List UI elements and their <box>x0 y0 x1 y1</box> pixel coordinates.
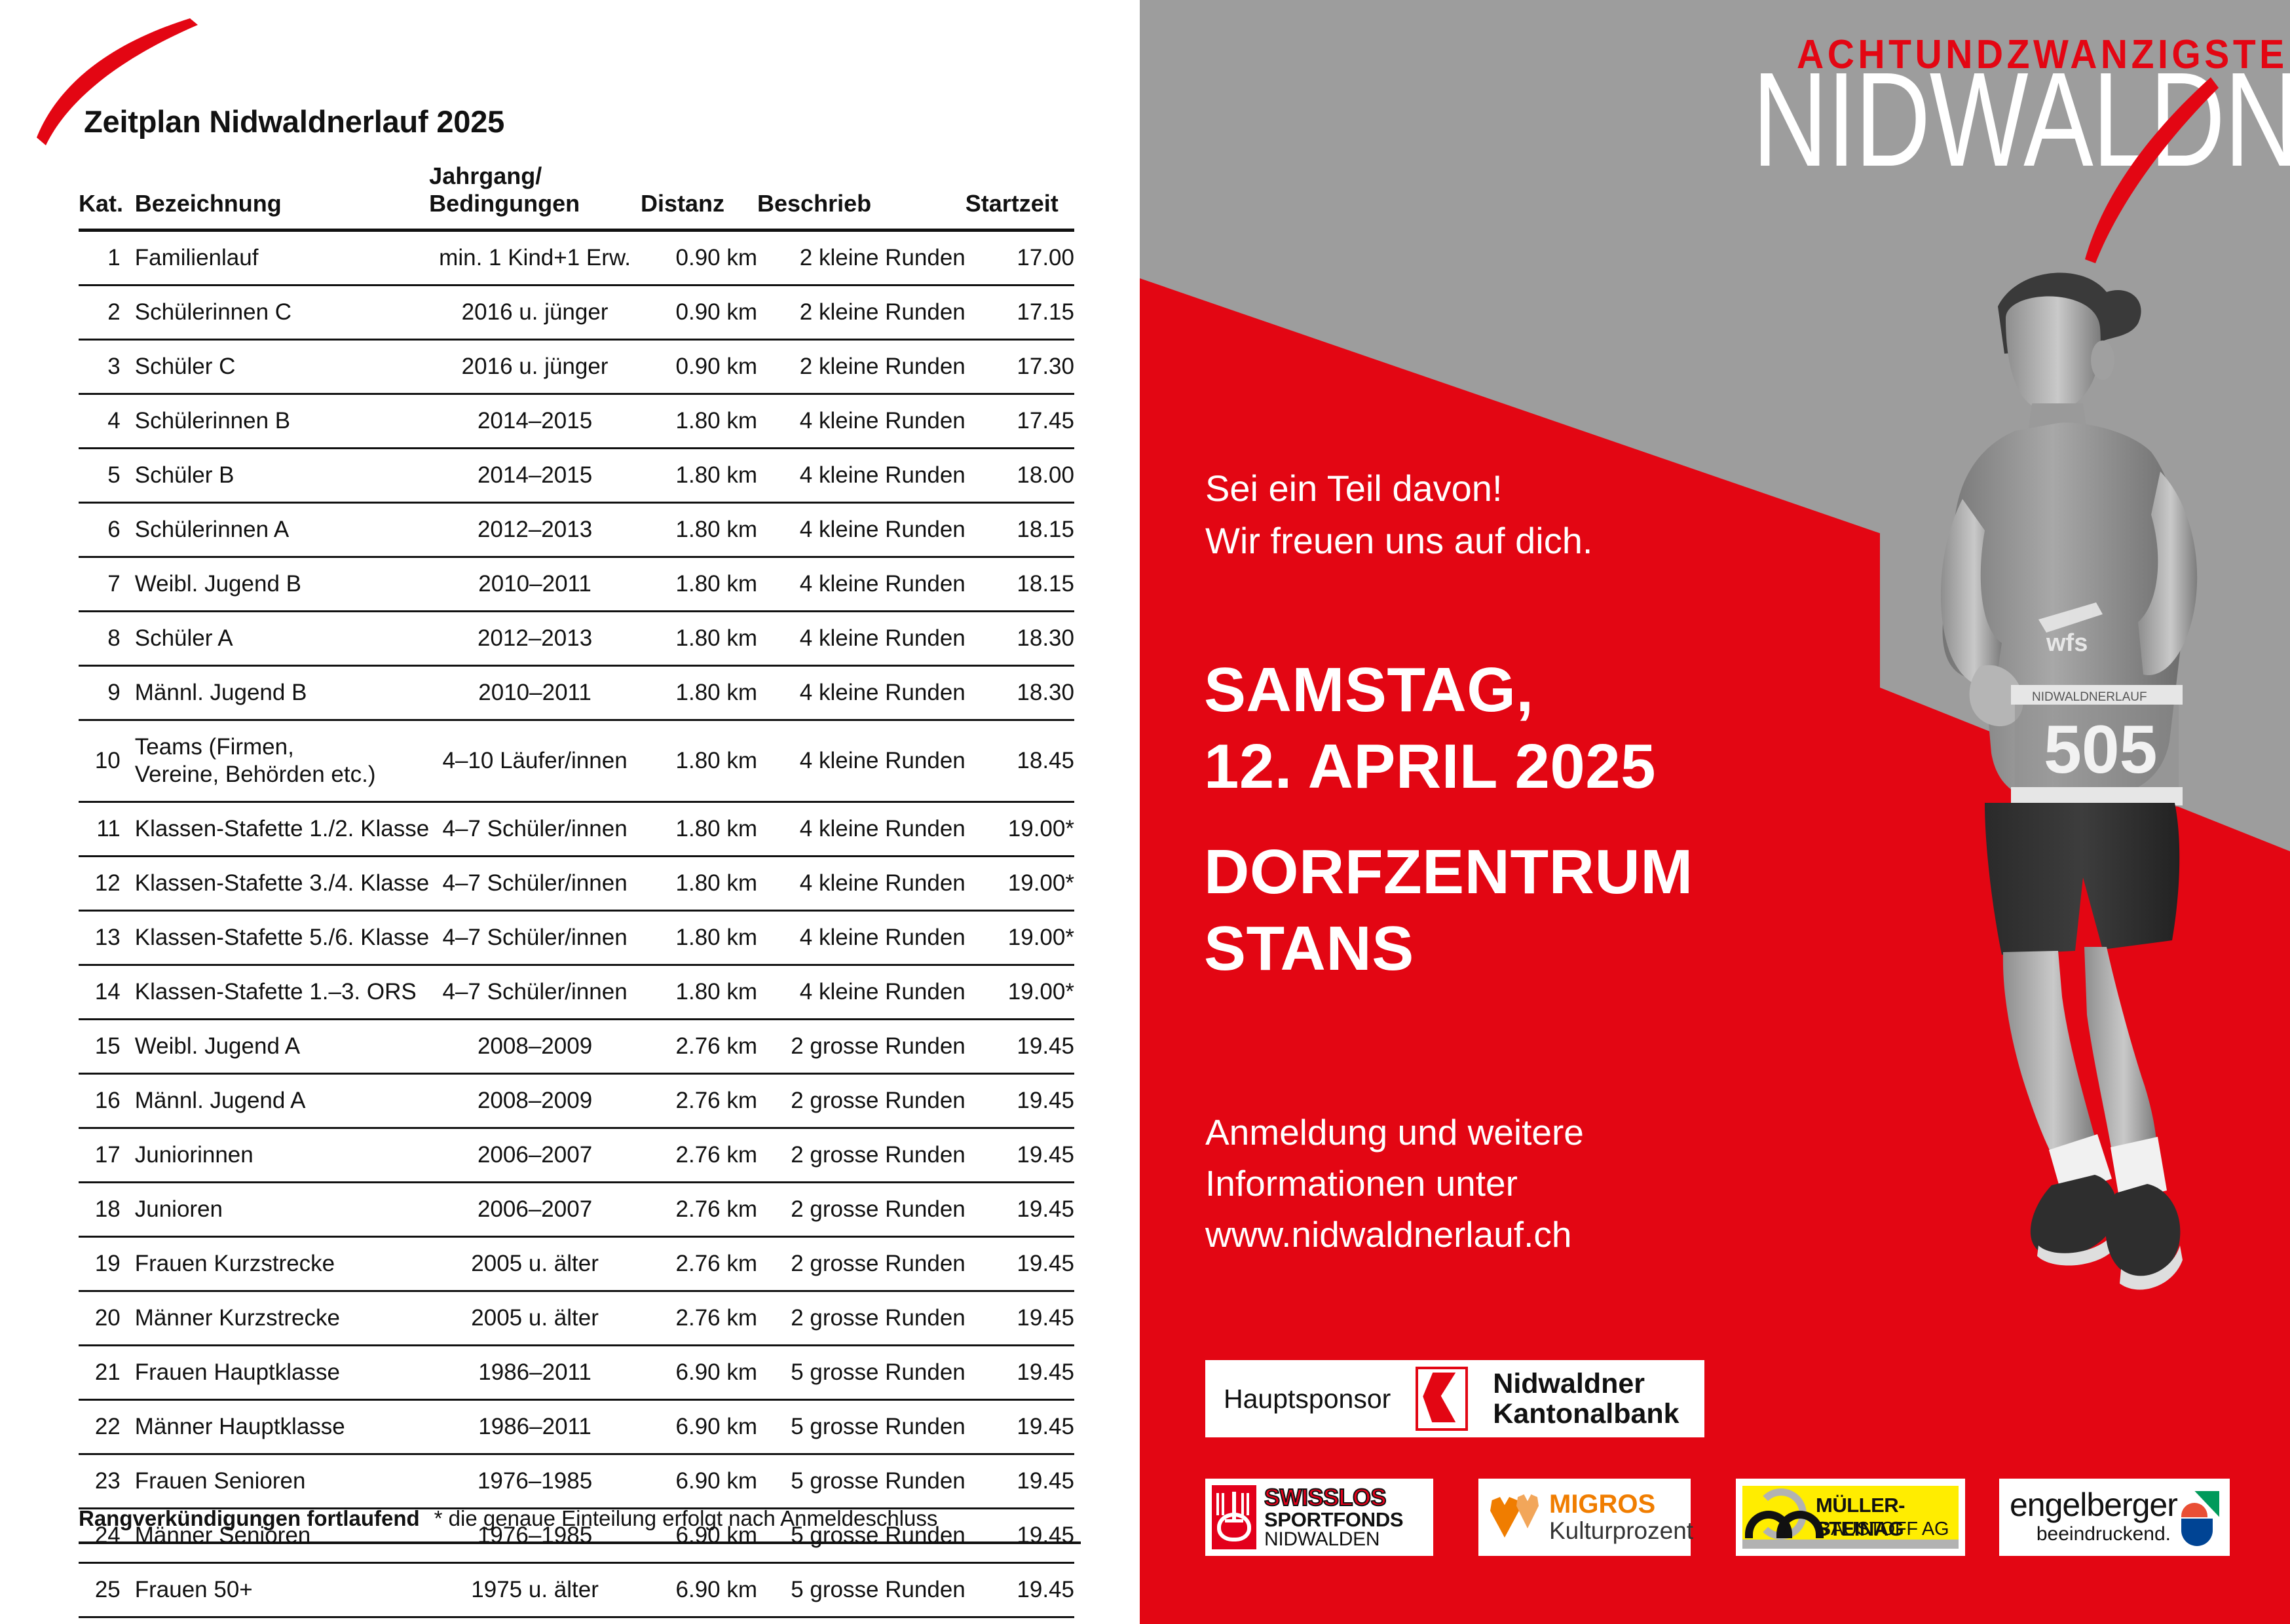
cell-startzeit: 18.15 <box>966 502 1074 557</box>
table-header: Kat. Bezeichnung Jahrgang/ Bedingungen D… <box>79 162 1074 230</box>
headline-line-1: SAMSTAG, <box>1204 652 1693 728</box>
cell-beschrieb: 2 grosse Runden <box>757 1236 966 1291</box>
cell-startzeit: 19.45 <box>966 1345 1074 1399</box>
cell-beschrieb: 2 kleine Runden <box>757 285 966 339</box>
cell-startzeit: 17.45 <box>966 394 1074 448</box>
swisslos-line1: SWISSLOS <box>1264 1486 1403 1509</box>
cell-kat: 9 <box>79 665 135 720</box>
cell-beschrieb: 4 kleine Runden <box>757 720 966 802</box>
cell-kat: 20 <box>79 1291 135 1345</box>
cell-kat: 7 <box>79 557 135 611</box>
cell-kat: 17 <box>79 1128 135 1182</box>
table-body: 1Familienlaufmin. 1 Kind+1 Erw.0.90 km2 … <box>79 230 1074 1624</box>
table-row: 3Schüler C2016 u. jünger0.90 km2 kleine … <box>79 339 1074 394</box>
cell-jahrgang: 2006–2007 <box>429 1128 641 1182</box>
schedule-table: Kat. Bezeichnung Jahrgang/ Bedingungen D… <box>79 162 1074 1624</box>
svg-text:wfs: wfs <box>2046 629 2088 657</box>
cell-beschrieb: 2 grosse Runden <box>757 1291 966 1345</box>
cell-kat: 16 <box>79 1073 135 1128</box>
schedule-panel: Zeitplan Nidwaldnerlauf 2025 Kat. Bezeic… <box>0 0 1140 1624</box>
svg-text:NIDWALDNERLAUF: NIDWALDNERLAUF <box>2032 690 2147 704</box>
cell-bezeichnung: Frauen 50+ <box>135 1562 429 1617</box>
cell-bezeichnung: Männer Kurzstrecke <box>135 1291 429 1345</box>
info-line-2: Informationen unter <box>1205 1158 1584 1209</box>
cell-distanz: 1.80 km <box>641 665 757 720</box>
cell-bezeichnung: Klassen-Stafette 1.–3. ORS <box>135 965 429 1019</box>
main-sponsor-logo[interactable]: Hauptsponsor Nidwaldner Kantonalbank <box>1205 1360 1704 1437</box>
table-row: 26Männer 50+1975 u. älter6.90 km5 grosse… <box>79 1617 1074 1624</box>
cell-bezeichnung: Schüler C <box>135 339 429 394</box>
cell-startzeit: 18.30 <box>966 611 1074 665</box>
migros-line2: Kulturprozent <box>1549 1518 1693 1544</box>
cell-startzeit: 19.45 <box>966 1128 1074 1182</box>
nkb-key-icon <box>1416 1367 1468 1431</box>
table-row: 1Familienlaufmin. 1 Kind+1 Erw.0.90 km2 … <box>79 230 1074 285</box>
cell-bezeichnung: Männl. Jugend B <box>135 665 429 720</box>
cell-distanz: 0.90 km <box>641 230 757 285</box>
table-row: 8Schüler A2012–20131.80 km4 kleine Runde… <box>79 611 1074 665</box>
cell-jahrgang: 2014–2015 <box>429 448 641 502</box>
table-row: 10Teams (Firmen,Vereine, Behörden etc.)4… <box>79 720 1074 802</box>
cell-jahrgang: 1975 u. älter <box>429 1617 641 1624</box>
cell-jahrgang: min. 1 Kind+1 Erw. <box>429 230 641 285</box>
cell-beschrieb: 4 kleine Runden <box>757 448 966 502</box>
headline-date-block: SAMSTAG, 12. APRIL 2025 <box>1204 652 1693 805</box>
cell-bezeichnung: Frauen Senioren <box>135 1454 429 1508</box>
cell-distanz: 1.80 km <box>641 856 757 910</box>
cell-jahrgang: 2016 u. jünger <box>429 339 641 394</box>
table-row: 7Weibl. Jugend B2010–20111.80 km4 kleine… <box>79 557 1074 611</box>
migros-text: MIGROS Kulturprozent <box>1549 1490 1693 1544</box>
cell-startzeit: 19.45 <box>966 1182 1074 1236</box>
cell-startzeit: 17.00 <box>966 230 1074 285</box>
cell-distanz: 2.76 km <box>641 1019 757 1073</box>
cell-kat: 26 <box>79 1617 135 1624</box>
cell-jahrgang: 4–7 Schüler/innen <box>429 802 641 856</box>
logo-swoosh-icon <box>2014 65 2224 268</box>
column-header-startzeit: Startzeit <box>966 162 1074 230</box>
table-row: 21Frauen Hauptklasse1986–20116.90 km5 gr… <box>79 1345 1074 1399</box>
cell-startzeit: 19.00* <box>966 965 1074 1019</box>
cell-distanz: 2.76 km <box>641 1291 757 1345</box>
cell-beschrieb: 4 kleine Runden <box>757 557 966 611</box>
cell-bezeichnung: Klassen-Stafette 1./2. Klasse <box>135 802 429 856</box>
runner-photo: wfs NIDWALDNERLAUF 505 <box>1886 255 2290 1303</box>
column-header-distanz: Distanz <box>641 162 757 230</box>
cell-distanz: 1.80 km <box>641 448 757 502</box>
sponsor-logo-swisslos[interactable]: SWISSLOS SPORTFONDS NIDWALDEN <box>1205 1479 1433 1556</box>
migros-heart-icon <box>1490 1493 1539 1541</box>
cell-bezeichnung: Männl. Jugend A <box>135 1073 429 1128</box>
cell-beschrieb: 4 kleine Runden <box>757 502 966 557</box>
cell-distanz: 1.80 km <box>641 611 757 665</box>
cell-kat: 6 <box>79 502 135 557</box>
event-headline: SAMSTAG, 12. APRIL 2025 DORFZENTRUM STAN… <box>1204 652 1693 987</box>
cell-jahrgang: 2010–2011 <box>429 557 641 611</box>
mueller-steinag-badge: MÜLLER-STEINAG BAUSTOFF AG <box>1742 1486 1959 1549</box>
cell-beschrieb: 5 grosse Runden <box>757 1399 966 1454</box>
column-header-kat: Kat. <box>79 162 135 230</box>
cell-beschrieb: 5 grosse Runden <box>757 1562 966 1617</box>
cell-startzeit: 19.45 <box>966 1236 1074 1291</box>
cell-kat: 10 <box>79 720 135 802</box>
cell-beschrieb: 2 grosse Runden <box>757 1019 966 1073</box>
headline-line-2: 12. APRIL 2025 <box>1204 728 1693 805</box>
cell-startzeit: 19.45 <box>966 1399 1074 1454</box>
cell-jahrgang: 2005 u. älter <box>429 1291 641 1345</box>
sponsor-logo-engelberger[interactable]: engelberger beeindruckend. <box>1999 1479 2230 1556</box>
footnote-bold-text: Rangverkündigungen fortlaufend <box>79 1506 420 1531</box>
nkb-name-line1: Nidwaldner <box>1493 1369 1679 1399</box>
cell-kat: 12 <box>79 856 135 910</box>
cell-distanz: 0.90 km <box>641 285 757 339</box>
cell-startzeit: 17.15 <box>966 285 1074 339</box>
headline-line-4: STANS <box>1204 910 1693 987</box>
table-row: 14Klassen-Stafette 1.–3. ORS4–7 Schüler/… <box>79 965 1074 1019</box>
column-header-jahrgang-line1: Jahrgang/ <box>429 162 542 189</box>
cell-bezeichnung: Schülerinnen C <box>135 285 429 339</box>
cell-startzeit: 19.45 <box>966 1291 1074 1345</box>
headline-venue-block: DORFZENTRUM STANS <box>1204 834 1693 987</box>
cell-bezeichnung: Teams (Firmen,Vereine, Behörden etc.) <box>135 720 429 802</box>
cell-bezeichnung: Schüler B <box>135 448 429 502</box>
cell-kat: 25 <box>79 1562 135 1617</box>
cell-bezeichnung: Schülerinnen A <box>135 502 429 557</box>
cell-distanz: 1.80 km <box>641 502 757 557</box>
cell-kat: 22 <box>79 1399 135 1454</box>
swisslos-line2: SPORTFONDS <box>1264 1509 1403 1530</box>
engelberger-logo-icon <box>2181 1491 2219 1546</box>
cell-kat: 23 <box>79 1454 135 1508</box>
cell-bezeichnung: Schülerinnen B <box>135 394 429 448</box>
cell-beschrieb: 5 grosse Runden <box>757 1617 966 1624</box>
website-url[interactable]: www.nidwaldnerlauf.ch <box>1205 1209 1584 1260</box>
cell-bezeichnung: Klassen-Stafette 5./6. Klasse <box>135 910 429 965</box>
cell-jahrgang: 4–7 Schüler/innen <box>429 965 641 1019</box>
cell-kat: 19 <box>79 1236 135 1291</box>
table-row: 18Junioren2006–20072.76 km2 grosse Runde… <box>79 1182 1074 1236</box>
cell-startzeit: 17.30 <box>966 339 1074 394</box>
table-row: 2Schülerinnen C2016 u. jünger0.90 km2 kl… <box>79 285 1074 339</box>
cell-jahrgang: 2012–2013 <box>429 611 641 665</box>
cell-bezeichnung: Klassen-Stafette 3./4. Klasse <box>135 856 429 910</box>
cell-distanz: 1.80 km <box>641 394 757 448</box>
cell-bezeichnung: Frauen Hauptklasse <box>135 1345 429 1399</box>
cell-jahrgang: 1986–2011 <box>429 1345 641 1399</box>
cell-startzeit: 19.00* <box>966 910 1074 965</box>
table-row: 5Schüler B2014–20151.80 km4 kleine Runde… <box>79 448 1074 502</box>
cell-kat: 13 <box>79 910 135 965</box>
cell-beschrieb: 5 grosse Runden <box>757 1345 966 1399</box>
cell-bezeichnung: Familienlauf <box>135 230 429 285</box>
cell-beschrieb: 2 grosse Runden <box>757 1073 966 1128</box>
cell-kat: 3 <box>79 339 135 394</box>
cell-startzeit: 19.45 <box>966 1454 1074 1508</box>
column-header-jahrgang-line2: Bedingungen <box>429 190 580 217</box>
cell-jahrgang: 2008–2009 <box>429 1073 641 1128</box>
column-header-beschrieb: Beschrieb <box>757 162 966 230</box>
cell-beschrieb: 4 kleine Runden <box>757 394 966 448</box>
cell-distanz: 1.80 km <box>641 557 757 611</box>
cell-bezeichnung: Schüler A <box>135 611 429 665</box>
nkb-name-line2: Kantonalbank <box>1493 1399 1679 1429</box>
sponsor-logo-mueller-steinag[interactable]: MÜLLER-STEINAG BAUSTOFF AG <box>1736 1479 1965 1556</box>
cell-kat: 4 <box>79 394 135 448</box>
table-header-row: Kat. Bezeichnung Jahrgang/ Bedingungen D… <box>79 162 1074 230</box>
cell-bezeichnung: Frauen Kurzstrecke <box>135 1236 429 1291</box>
footnote-asterisk-text: * die genaue Einteilung erfolgt nach Anm… <box>434 1506 938 1531</box>
info-line-1: Anmeldung und weitere <box>1205 1107 1584 1158</box>
table-row: 19Frauen Kurzstrecke2005 u. älter2.76 km… <box>79 1236 1074 1291</box>
cell-distanz: 2.76 km <box>641 1073 757 1128</box>
cell-bezeichnung: Männer Hauptklasse <box>135 1399 429 1454</box>
claim-line-2: Wir freuen uns auf dich. <box>1205 515 1592 567</box>
cell-distanz: 1.80 km <box>641 910 757 965</box>
swisslos-line3: NIDWALDEN <box>1264 1530 1403 1549</box>
migros-line1: MIGROS <box>1549 1490 1693 1518</box>
sponsor-logo-migros[interactable]: MIGROS Kulturprozent <box>1478 1479 1691 1556</box>
cell-jahrgang: 2014–2015 <box>429 394 641 448</box>
cell-kat: 11 <box>79 802 135 856</box>
cell-distanz: 6.90 km <box>641 1562 757 1617</box>
cell-kat: 18 <box>79 1182 135 1236</box>
cell-startzeit: 19.45 <box>966 1073 1074 1128</box>
cell-jahrgang: 2016 u. jünger <box>429 285 641 339</box>
cell-jahrgang: 1986–2011 <box>429 1399 641 1454</box>
table-row: 13Klassen-Stafette 5./6. Klasse4–7 Schül… <box>79 910 1074 965</box>
cell-kat: 15 <box>79 1019 135 1073</box>
table-row: 25Frauen 50+1975 u. älter6.90 km5 grosse… <box>79 1562 1074 1617</box>
cell-jahrgang: 1975 u. älter <box>429 1562 641 1617</box>
cell-jahrgang: 4–7 Schüler/innen <box>429 910 641 965</box>
cell-jahrgang: 4–10 Läufer/innen <box>429 720 641 802</box>
claim-line-1: Sei ein Teil davon! <box>1205 462 1592 515</box>
cell-kat: 2 <box>79 285 135 339</box>
headline-line-3: DORFZENTRUM <box>1204 834 1693 910</box>
cell-beschrieb: 4 kleine Runden <box>757 802 966 856</box>
cell-kat: 21 <box>79 1345 135 1399</box>
cell-jahrgang: 2006–2007 <box>429 1182 641 1236</box>
cell-distanz: 2.76 km <box>641 1236 757 1291</box>
poster-root: Zeitplan Nidwaldnerlauf 2025 Kat. Bezeic… <box>0 0 2290 1624</box>
cell-beschrieb: 4 kleine Runden <box>757 965 966 1019</box>
cell-jahrgang: 2005 u. älter <box>429 1236 641 1291</box>
cell-distanz: 2.76 km <box>641 1128 757 1182</box>
cell-startzeit: 18.45 <box>966 720 1074 802</box>
cell-beschrieb: 4 kleine Runden <box>757 665 966 720</box>
cell-jahrgang: 2010–2011 <box>429 665 641 720</box>
cell-distanz: 2.76 km <box>641 1182 757 1236</box>
page-title: Zeitplan Nidwaldnerlauf 2025 <box>84 103 504 139</box>
cell-startzeit: 19.00* <box>966 856 1074 910</box>
cell-distanz: 1.80 km <box>641 720 757 802</box>
cell-jahrgang: 2008–2009 <box>429 1019 641 1073</box>
cell-bezeichnung: Junioren <box>135 1182 429 1236</box>
cell-distanz: 6.90 km <box>641 1617 757 1624</box>
table-row: 9Männl. Jugend B2010–20111.80 km4 kleine… <box>79 665 1074 720</box>
table-row: 15Weibl. Jugend A2008–20092.76 km2 gross… <box>79 1019 1074 1073</box>
svg-text:505: 505 <box>2044 712 2158 788</box>
cell-beschrieb: 4 kleine Runden <box>757 611 966 665</box>
cell-beschrieb: 2 grosse Runden <box>757 1128 966 1182</box>
table-row: 11Klassen-Stafette 1./2. Klasse4–7 Schül… <box>79 802 1074 856</box>
cell-kat: 14 <box>79 965 135 1019</box>
nidwalden-coat-of-arms-icon <box>1212 1485 1256 1549</box>
cell-kat: 5 <box>79 448 135 502</box>
cell-bezeichnung: Juniorinnen <box>135 1128 429 1182</box>
table-row: 17Juniorinnen2006–20072.76 km2 grosse Ru… <box>79 1128 1074 1182</box>
cell-bezeichnung: Weibl. Jugend A <box>135 1019 429 1073</box>
table-row: 16Männl. Jugend A2008–20092.76 km2 gross… <box>79 1073 1074 1128</box>
mueller-line2: BAUSTOFF AG <box>1818 1519 1949 1540</box>
cell-startzeit: 19.45 <box>966 1617 1074 1624</box>
cell-beschrieb: 5 grosse Runden <box>757 1454 966 1508</box>
cell-beschrieb: 4 kleine Runden <box>757 910 966 965</box>
column-header-bezeichnung: Bezeichnung <box>135 162 429 230</box>
cell-distanz: 6.90 km <box>641 1454 757 1508</box>
cell-jahrgang: 4–7 Schüler/innen <box>429 856 641 910</box>
cell-startzeit: 18.00 <box>966 448 1074 502</box>
cell-startzeit: 19.45 <box>966 1019 1074 1073</box>
cell-beschrieb: 4 kleine Runden <box>757 856 966 910</box>
cell-distanz: 6.90 km <box>641 1345 757 1399</box>
table-row: 23Frauen Senioren1976–19856.90 km5 gross… <box>79 1454 1074 1508</box>
cell-beschrieb: 2 kleine Runden <box>757 230 966 285</box>
cell-startzeit: 19.00* <box>966 802 1074 856</box>
cell-startzeit: 19.45 <box>966 1562 1074 1617</box>
cell-beschrieb: 2 kleine Runden <box>757 339 966 394</box>
cell-distanz: 1.80 km <box>641 802 757 856</box>
cell-jahrgang: 1976–1985 <box>429 1454 641 1508</box>
table-footnote: Rangverkündigungen fortlaufend * die gen… <box>79 1506 1081 1544</box>
cell-startzeit: 18.30 <box>966 665 1074 720</box>
cell-beschrieb: 2 grosse Runden <box>757 1182 966 1236</box>
cell-distanz: 1.80 km <box>641 965 757 1019</box>
cell-startzeit: 18.15 <box>966 557 1074 611</box>
table-row: 12Klassen-Stafette 3./4. Klasse4–7 Schül… <box>79 856 1074 910</box>
cell-bezeichnung: Männer 50+ <box>135 1617 429 1624</box>
cell-distanz: 6.90 km <box>641 1399 757 1454</box>
hauptsponsor-label: Hauptsponsor <box>1224 1384 1391 1414</box>
swisslos-text: SWISSLOS SPORTFONDS NIDWALDEN <box>1264 1486 1403 1549</box>
table-row: 6Schülerinnen A2012–20131.80 km4 kleine … <box>79 502 1074 557</box>
cell-kat: 8 <box>79 611 135 665</box>
cell-distanz: 0.90 km <box>641 339 757 394</box>
column-header-jahrgang: Jahrgang/ Bedingungen <box>429 162 641 230</box>
cell-bezeichnung: Weibl. Jugend B <box>135 557 429 611</box>
table-row: 4Schülerinnen B2014–20151.80 km4 kleine … <box>79 394 1074 448</box>
nkb-name: Nidwaldner Kantonalbank <box>1493 1369 1679 1429</box>
engelberger-text: engelberger beeindruckend. <box>2010 1488 2219 1547</box>
claim-text: Sei ein Teil davon! Wir freuen uns auf d… <box>1205 462 1592 566</box>
cell-jahrgang: 2012–2013 <box>429 502 641 557</box>
table-row: 22Männer Hauptklasse1986–20116.90 km5 gr… <box>79 1399 1074 1454</box>
cell-kat: 1 <box>79 230 135 285</box>
table-row: 20Männer Kurzstrecke2005 u. älter2.76 km… <box>79 1291 1074 1345</box>
registration-info: Anmeldung und weitere Informationen unte… <box>1205 1107 1584 1260</box>
